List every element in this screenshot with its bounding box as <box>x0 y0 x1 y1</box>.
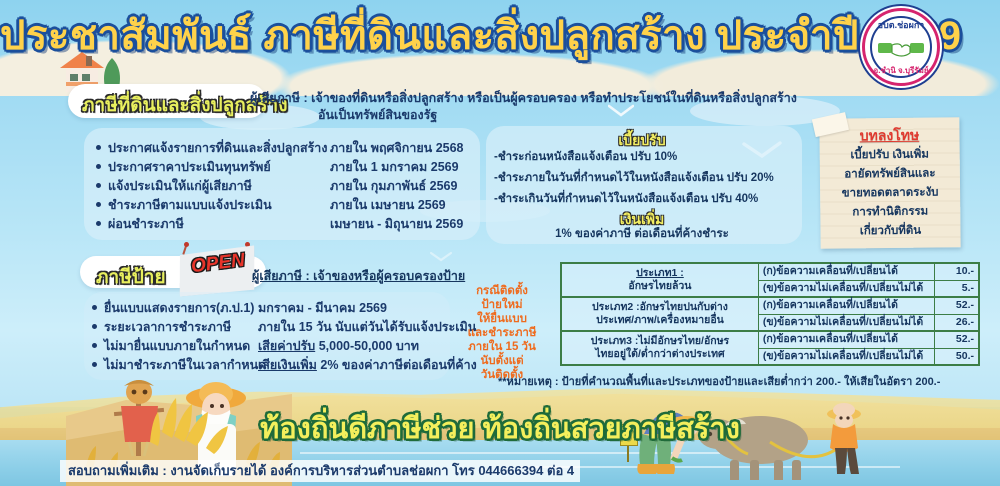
poster-root: ประชาสัมพันธ์ ภาษีที่ดินและสิ่งปลูกสร้าง… <box>0 0 1000 486</box>
table-row: ประเภท3 :ไม่มีอักษรไทย/อักษร ไทยอยู่ใต้/… <box>561 331 979 348</box>
land-due-0: ภายใน พฤศจิกายน 2568 <box>330 140 464 156</box>
rate-desc-2-0: (ก)ข้อความเคลื่อนที่/เปลี่ยนได้ <box>758 331 934 348</box>
table-row: ประเภท2 :อักษรไทยปนกับต่าง ประเทศ/ภาพ/เค… <box>561 297 979 314</box>
land-task-2: แจ้งประเมินให้แก่ผู้เสียภาษี <box>96 178 252 194</box>
fine-line-2: -ชำระเกินวันที่กำหนดไว้ในหนังสือแจ้งเตือ… <box>494 192 758 207</box>
bullet-icon <box>92 305 97 310</box>
land-task-label-1: ประกาศราคาประเมินทุนทรัพย์ <box>108 160 271 174</box>
sign-task-label-0: ยื่นแบบแสดงรายการ(ภ.ป.1) <box>104 301 254 315</box>
rate-value-1-0: 52.- <box>934 297 979 314</box>
bullet-icon <box>96 221 101 226</box>
rate-cat-2: ประเภท3 :ไม่มีอักษรไทย/อักษร ไทยอยู่ใต้/… <box>561 331 758 365</box>
sign-task-1: ระยะเวลาการชำระภาษี <box>92 319 231 335</box>
new-sign-warning-4: ภายใน 15 วัน <box>444 340 560 354</box>
rate-value-1-1: 26.- <box>934 314 979 331</box>
header-banner: ประชาสัมพันธ์ ภาษีที่ดินและสิ่งปลูกสร้าง… <box>0 0 1000 72</box>
rate-cat-sub-2: ไทยอยู่ใต้/ต่ำกว่าต่างประเทศ <box>595 348 725 360</box>
bullet-icon <box>92 324 97 329</box>
sign-due-2: เสียค่าปรับ 5,000-50,000 บาท <box>258 338 419 354</box>
rate-value-2-1: 50.- <box>934 348 979 365</box>
rate-cat-title-1: ประเภท2 :อักษรไทยปนกับต่าง <box>592 301 728 313</box>
sign-task-3: ไม่มาชำระภาษีในเวลากำหนด <box>92 357 266 373</box>
rate-cat-sub-0: อักษรไทยล้วน <box>628 280 691 292</box>
rate-desc-2-1: (ข)ข้อความไม่เคลื่อนที่/เปลี่ยนไม่ได้ <box>758 348 934 365</box>
fine-line-1: -ชำระภายในวันที่กำหนดไว้ในหนังสือแจ้งเตื… <box>494 171 774 186</box>
sign-task-label-1: ระยะเวลาการชำระภาษี <box>104 320 231 334</box>
bullet-icon <box>96 202 101 207</box>
new-sign-warning-1: ป้ายใหม่ <box>444 298 560 312</box>
field-sign-post <box>627 444 629 462</box>
land-task-3: ชำระภาษีตามแบบแจ้งประเมิน <box>96 197 272 213</box>
land-tax-payer-line-2: อันเป็นทรัพย์สินของรัฐ <box>318 107 437 124</box>
rate-value-0-1: 5.- <box>934 280 979 297</box>
open-sign-pin-left <box>184 242 189 247</box>
rate-desc-1-0: (ก)ข้อความเคลื่อนที่/เปลี่ยนได้ <box>758 297 934 314</box>
sign-due-0: มกราคม - มีนาคม 2569 <box>258 300 387 316</box>
punishment-title: บทลงโทษ <box>819 124 959 147</box>
bullet-icon <box>96 183 101 188</box>
fine-heading: เบี้ยปรับ <box>492 130 792 152</box>
land-due-3: ภายใน เมษายน 2569 <box>330 197 446 213</box>
land-task-4: ผ่อนชำระภาษี <box>96 216 184 232</box>
table-row: ประเภท1 : อักษรไทยล้วน (ก)ข้อความเคลื่อน… <box>561 263 979 280</box>
rate-desc-0-1: (ข)ข้อความไม่เคลื่อนที่/เปลี่ยนไม่ได้ <box>758 280 934 297</box>
sign-task-0: ยื่นแบบแสดงรายการ(ภ.ป.1) <box>92 300 254 316</box>
sign-due-rest-2: 5,000-50,000 บาท <box>319 339 419 353</box>
land-task-label-3: ชำระภาษีตามแบบแจ้งประเมิน <box>108 198 272 212</box>
handshake-icon <box>878 39 924 57</box>
land-task-1: ประกาศราคาประเมินทุนทรัพย์ <box>96 159 271 175</box>
seal-bottom-text: อ.ชำนิ จ.บุรีรัมย์ <box>865 64 937 77</box>
punishment-note-paper: บทลงโทษ เบี้ยปรับ เงินเพิ่ม อายัดทรัพย์ส… <box>819 117 960 248</box>
punishment-line-0: เบี้ยปรับ เงินเพิ่ม <box>820 147 960 162</box>
punishment-line-4: เกี่ยวกับที่ดิน <box>820 223 960 238</box>
punishment-line-1: อายัดทรัพย์สินและ <box>820 166 960 181</box>
municipality-seal-logo: อบต.ช่อผกา อ.ชำนิ จ.บุรีรัมย์ <box>862 8 940 86</box>
sign-task-2: ไม่มายื่นแบบภายในกำหนด <box>92 338 250 354</box>
land-due-1: ภายใน 1 มกราคม 2569 <box>330 159 459 175</box>
new-sign-warning-0: กรณีติดตั้ง <box>444 284 560 298</box>
sign-tax-payer-heading: ผู้เสียภาษี : เจ้าของหรือผู้ครอบครองป้าย <box>252 266 465 286</box>
rate-desc-0-0: (ก)ข้อความเคลื่อนที่/เปลี่ยนได้ <box>758 263 934 280</box>
land-due-2: ภายใน กุมภาพันธ์ 2569 <box>330 178 457 194</box>
new-sign-warning-3: และชำระภาษี <box>444 326 560 340</box>
land-task-label-2: แจ้งประเมินให้แก่ผู้เสียภาษี <box>108 179 252 193</box>
seal-top-text: อบต.ช่อผกา <box>865 18 937 32</box>
surcharge-line: 1% ของค่าภาษี ต่อเดือนที่ค้างชำระ <box>492 227 792 242</box>
land-task-label-4: ผ่อนชำระภาษี <box>108 217 184 231</box>
sign-task-label-3: ไม่มาชำระภาษีในเวลากำหนด <box>104 358 266 372</box>
sign-due-underline-3: เสียเงินเพิ่ม <box>258 358 317 372</box>
footer-slogan: ท้องถิ่นดีภาษีช่วย ท้องถิ่นสวยภาษีสร้าง <box>180 412 820 446</box>
new-sign-warning-2: ให้ยื่นแบบ <box>444 312 560 326</box>
rate-desc-1-1: (ข)ข้อความไม่เคลื่อนที่/เปลี่ยนไม่ได้ <box>758 314 934 331</box>
rate-value-2-0: 52.- <box>934 331 979 348</box>
page-title: ประชาสัมพันธ์ ภาษีที่ดินและสิ่งปลูกสร้าง… <box>0 12 890 60</box>
land-tax-payer-line-1: ผู้เสียภาษี : เจ้าของที่ดินหรือสิ่งปลูกส… <box>250 90 797 107</box>
rate-table-footnote: **หมายเหตุ : ป้ายที่คำนวณพื้นที่และประเภ… <box>498 372 940 390</box>
bullet-icon <box>96 164 101 169</box>
bullet-icon <box>96 145 101 150</box>
punishment-line-3: การทำนิติกรรม <box>820 204 960 219</box>
rate-cat-0: ประเภท1 : อักษรไทยล้วน <box>561 263 758 297</box>
land-due-4: เมษายน - มิถุนายน 2569 <box>330 216 463 232</box>
bullet-icon <box>92 343 97 348</box>
fine-line-0: -ชำระก่อนหนังสือแจ้งเตือน ปรับ 10% <box>494 150 677 165</box>
rate-cat-sub-1: ประเทศ/ภาพ/เครื่องหมายอื่น <box>596 314 724 326</box>
sign-due-underline-2: เสียค่าปรับ <box>258 339 315 353</box>
rate-value-0-0: 10.- <box>934 263 979 280</box>
sign-task-label-2: ไม่มายื่นแบบภายในกำหนด <box>104 339 250 353</box>
rate-cat-title-2: ประเภท3 :ไม่มีอักษรไทย/อักษร <box>591 335 729 347</box>
bullet-icon <box>92 362 97 367</box>
rate-cat-1: ประเภท2 :อักษรไทยปนกับต่าง ประเทศ/ภาพ/เค… <box>561 297 758 331</box>
contact-info: สอบถามเพิ่มเติม : งานจัดเก็บรายได้ องค์ก… <box>68 462 574 480</box>
new-sign-warning-5: นับตั้งแต่ <box>444 354 560 368</box>
land-task-0: ประกาศแจ้งรายการที่ดินและสิ่งปลูกสร้าง <box>96 140 327 156</box>
punishment-line-2: ขายทอดตลาดระงับ <box>820 185 960 200</box>
sign-rate-table: ประเภท1 : อักษรไทยล้วน (ก)ข้อความเคลื่อน… <box>560 262 980 366</box>
land-task-label-0: ประกาศแจ้งรายการที่ดินและสิ่งปลูกสร้าง <box>108 141 327 155</box>
sign-tax-label: ภาษีป้าย <box>96 262 166 292</box>
rate-cat-title-0: ประเภท1 : <box>636 267 684 279</box>
